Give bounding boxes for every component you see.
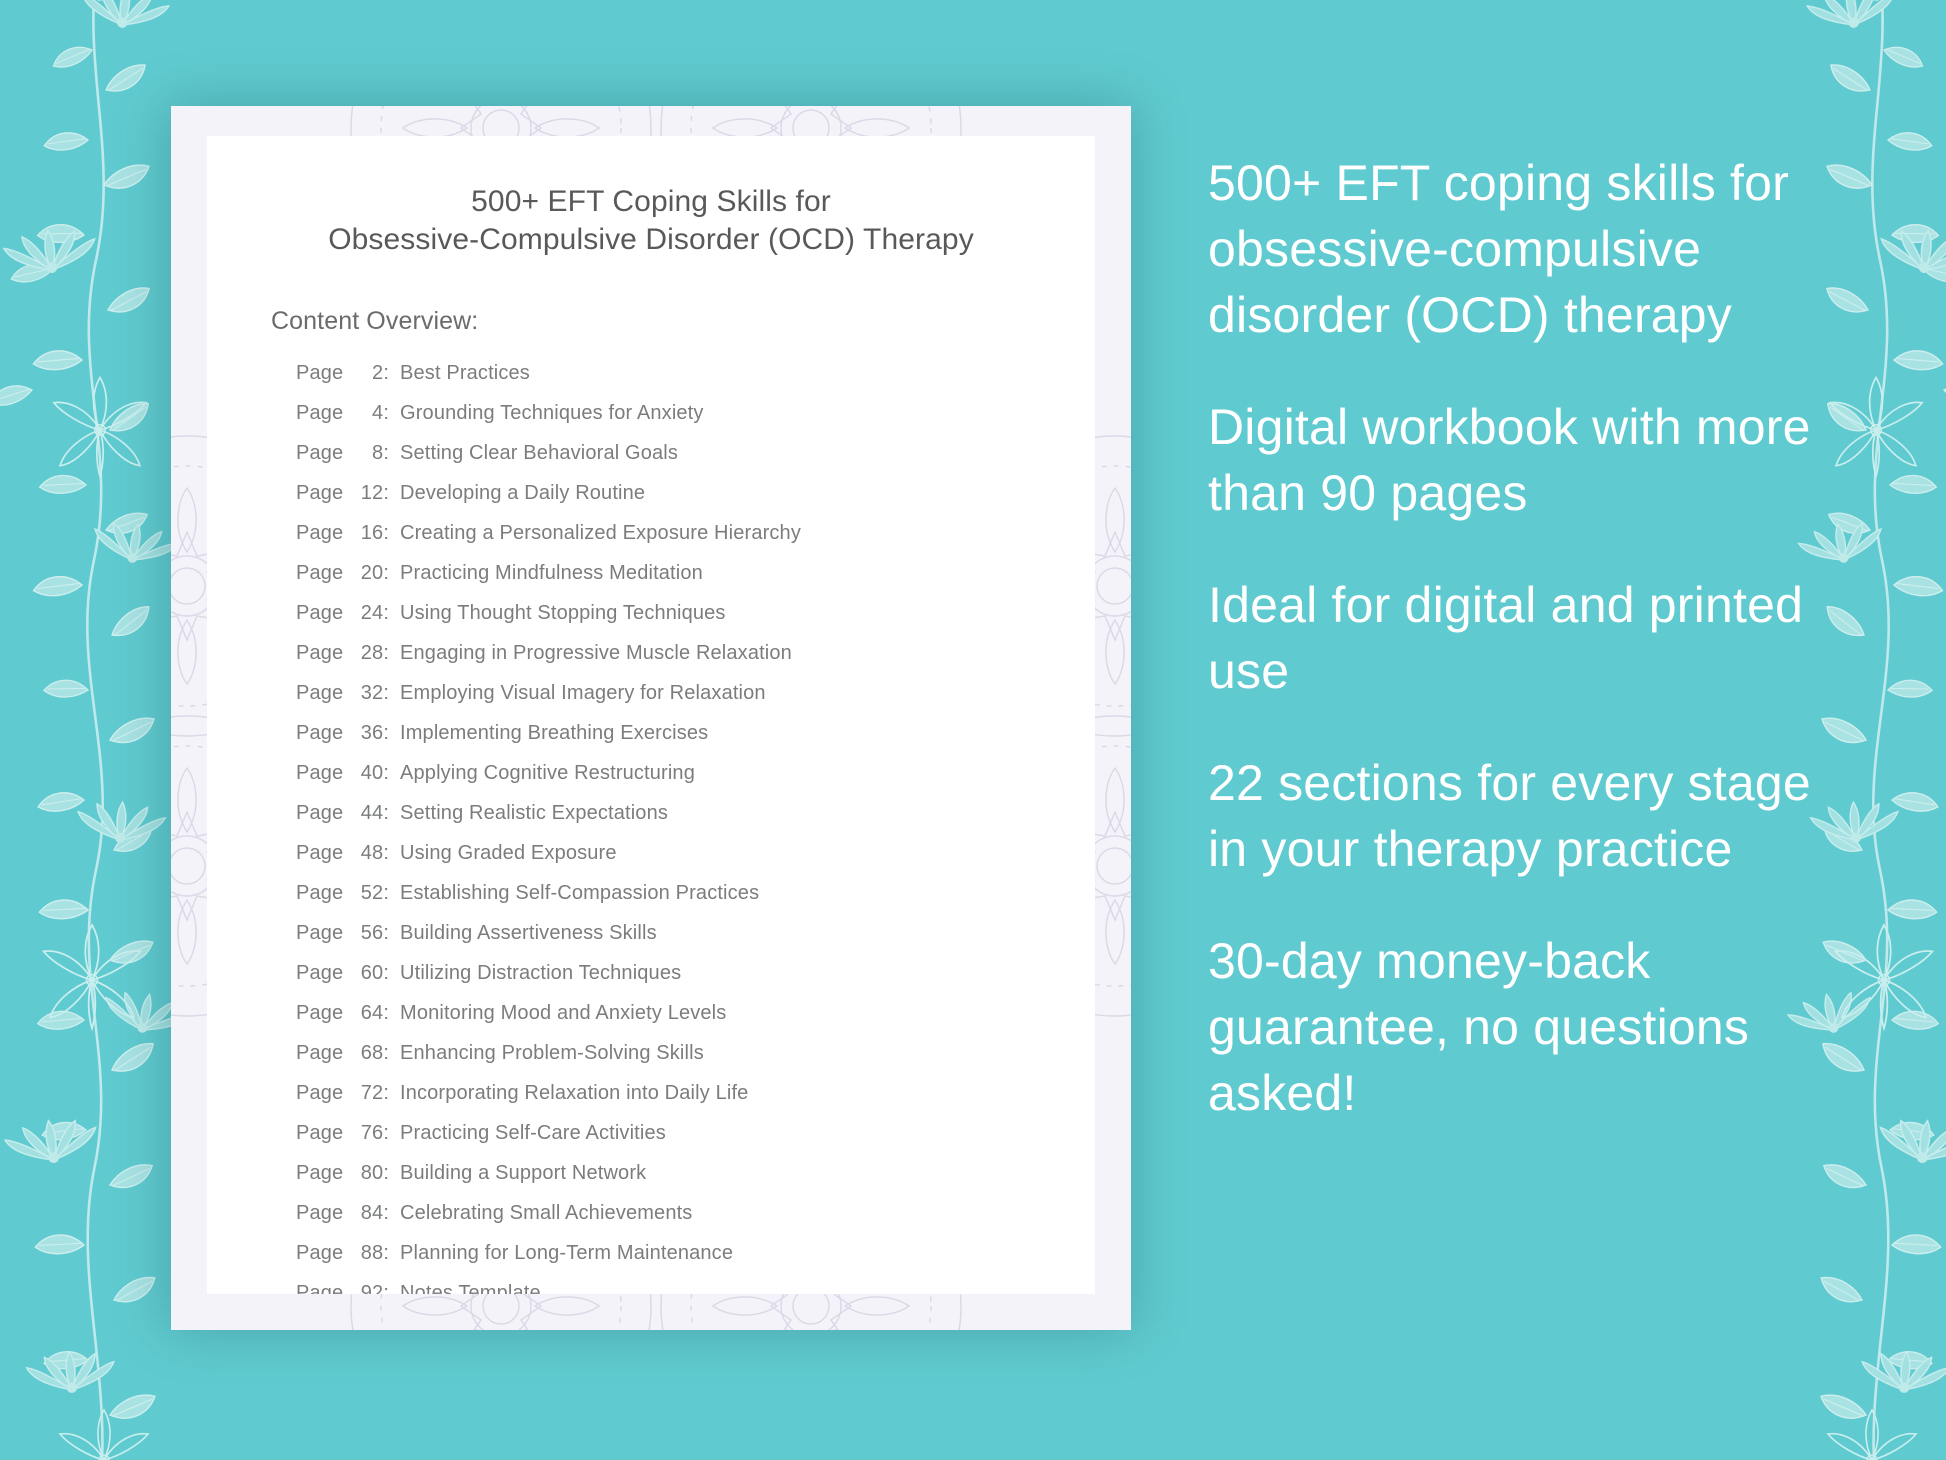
toc-page-number: 4 xyxy=(349,403,383,423)
toc-entry[interactable]: Page48:Using Graded Exposure xyxy=(296,843,1095,863)
toc-entry-title: Enhancing Problem-Solving Skills xyxy=(400,1043,704,1063)
toc-entry[interactable]: Page84:Celebrating Small Achievements xyxy=(296,1203,1095,1223)
marketing-bullet: 30-day money-back guarantee, no question… xyxy=(1208,928,1818,1126)
toc-colon: : xyxy=(383,563,389,583)
poster-canvas: 500+ EFT Coping Skills for Obsessive-Com… xyxy=(0,0,1946,1460)
toc-page-number: 36 xyxy=(349,723,383,743)
toc-page-number: 80 xyxy=(349,1163,383,1183)
toc-entry[interactable]: Page12:Developing a Daily Routine xyxy=(296,483,1095,503)
toc-page-number: 92 xyxy=(349,1283,383,1294)
toc-page-number: 12 xyxy=(349,483,383,503)
table-of-contents: Page2:Best PracticesPage4:Grounding Tech… xyxy=(207,336,1095,1294)
toc-page-word: Page xyxy=(296,1083,343,1103)
toc-entry-title: Monitoring Mood and Anxiety Levels xyxy=(400,1003,726,1023)
toc-page-number: 52 xyxy=(349,883,383,903)
toc-entry[interactable]: Page24:Using Thought Stopping Techniques xyxy=(296,603,1095,623)
marketing-bullet: Ideal for digital and printed use xyxy=(1208,572,1818,704)
toc-colon: : xyxy=(383,923,389,943)
toc-entry[interactable]: Page28:Engaging in Progressive Muscle Re… xyxy=(296,643,1095,663)
toc-entry[interactable]: Page80:Building a Support Network xyxy=(296,1163,1095,1183)
toc-entry[interactable]: Page4:Grounding Techniques for Anxiety xyxy=(296,403,1095,423)
toc-entry-title: Practicing Mindfulness Meditation xyxy=(400,563,703,583)
toc-page-number: 32 xyxy=(349,683,383,703)
toc-page-word: Page xyxy=(296,763,343,783)
toc-page-word: Page xyxy=(296,403,343,423)
toc-page-word: Page xyxy=(296,843,343,863)
document-page[interactable]: 500+ EFT Coping Skills for Obsessive-Com… xyxy=(171,106,1131,1330)
toc-colon: : xyxy=(383,723,389,743)
toc-colon: : xyxy=(383,763,389,783)
toc-colon: : xyxy=(383,1203,389,1223)
toc-entry-title: Setting Realistic Expectations xyxy=(400,803,668,823)
toc-page-number: 2 xyxy=(349,363,383,383)
toc-page-word: Page xyxy=(296,603,343,623)
toc-entry[interactable]: Page64:Monitoring Mood and Anxiety Level… xyxy=(296,1003,1095,1023)
toc-page-word: Page xyxy=(296,1003,343,1023)
toc-entry[interactable]: Page20:Practicing Mindfulness Meditation xyxy=(296,563,1095,583)
toc-entry[interactable]: Page68:Enhancing Problem-Solving Skills xyxy=(296,1043,1095,1063)
toc-entry-title: Celebrating Small Achievements xyxy=(400,1203,692,1223)
toc-colon: : xyxy=(383,683,389,703)
toc-page-word: Page xyxy=(296,1123,343,1143)
toc-page-number: 28 xyxy=(349,643,383,663)
toc-page-word: Page xyxy=(296,1203,343,1223)
content-overview-label: Content Overview: xyxy=(207,258,1095,336)
toc-entry-title: Engaging in Progressive Muscle Relaxatio… xyxy=(400,643,792,663)
toc-entry-title: Developing a Daily Routine xyxy=(400,483,645,503)
toc-colon: : xyxy=(383,963,389,983)
toc-page-number: 16 xyxy=(349,523,383,543)
marketing-bullet: Digital workbook with more than 90 pages xyxy=(1208,394,1818,526)
toc-page-word: Page xyxy=(296,1043,343,1063)
toc-entry[interactable]: Page36:Implementing Breathing Exercises xyxy=(296,723,1095,743)
toc-entry-title: Best Practices xyxy=(400,363,530,383)
toc-entry-title: Setting Clear Behavioral Goals xyxy=(400,443,678,463)
toc-page-word: Page xyxy=(296,963,343,983)
toc-page-number: 40 xyxy=(349,763,383,783)
toc-entry-title: Establishing Self-Compassion Practices xyxy=(400,883,759,903)
toc-colon: : xyxy=(383,363,389,383)
document-inner-page: 500+ EFT Coping Skills for Obsessive-Com… xyxy=(207,136,1095,1294)
toc-entry-title: Building a Support Network xyxy=(400,1163,646,1183)
toc-entry-title: Employing Visual Imagery for Relaxation xyxy=(400,683,766,703)
toc-entry-title: Grounding Techniques for Anxiety xyxy=(400,403,704,423)
toc-entry-title: Incorporating Relaxation into Daily Life xyxy=(400,1083,748,1103)
toc-page-word: Page xyxy=(296,803,343,823)
toc-page-number: 84 xyxy=(349,1203,383,1223)
toc-entry[interactable]: Page72:Incorporating Relaxation into Dai… xyxy=(296,1083,1095,1103)
toc-entry-title: Practicing Self-Care Activities xyxy=(400,1123,666,1143)
page-title-line-1: 500+ EFT Coping Skills for xyxy=(207,183,1095,221)
toc-page-word: Page xyxy=(296,1283,343,1294)
toc-page-word: Page xyxy=(296,683,343,703)
page-title: 500+ EFT Coping Skills for Obsessive-Com… xyxy=(207,136,1095,258)
marketing-bullet: 500+ EFT coping skills for obsessive-com… xyxy=(1208,150,1818,348)
toc-entry[interactable]: Page40:Applying Cognitive Restructuring xyxy=(296,763,1095,783)
toc-page-word: Page xyxy=(296,523,343,543)
toc-entry-title: Using Graded Exposure xyxy=(400,843,617,863)
toc-page-word: Page xyxy=(296,1243,343,1263)
toc-page-word: Page xyxy=(296,883,343,903)
toc-colon: : xyxy=(383,483,389,503)
toc-entry[interactable]: Page32:Employing Visual Imagery for Rela… xyxy=(296,683,1095,703)
toc-page-word: Page xyxy=(296,563,343,583)
toc-page-number: 68 xyxy=(349,1043,383,1063)
toc-page-number: 72 xyxy=(349,1083,383,1103)
toc-colon: : xyxy=(383,443,389,463)
toc-entry[interactable]: Page92:Notes Template xyxy=(296,1283,1095,1294)
toc-page-word: Page xyxy=(296,363,343,383)
toc-entry-title: Building Assertiveness Skills xyxy=(400,923,657,943)
toc-colon: : xyxy=(383,1003,389,1023)
toc-page-word: Page xyxy=(296,483,343,503)
toc-entry[interactable]: Page56:Building Assertiveness Skills xyxy=(296,923,1095,943)
toc-entry[interactable]: Page88:Planning for Long-Term Maintenanc… xyxy=(296,1243,1095,1263)
toc-page-number: 60 xyxy=(349,963,383,983)
toc-entry[interactable]: Page76:Practicing Self-Care Activities xyxy=(296,1123,1095,1143)
toc-page-word: Page xyxy=(296,643,343,663)
toc-colon: : xyxy=(383,1243,389,1263)
toc-entry-title: Utilizing Distraction Techniques xyxy=(400,963,681,983)
toc-page-word: Page xyxy=(296,1163,343,1183)
toc-page-number: 44 xyxy=(349,803,383,823)
toc-entry[interactable]: Page44:Setting Realistic Expectations xyxy=(296,803,1095,823)
toc-colon: : xyxy=(383,1283,389,1294)
toc-entry-title: Creating a Personalized Exposure Hierarc… xyxy=(400,523,801,543)
toc-entry[interactable]: Page2:Best Practices xyxy=(296,363,1095,383)
toc-colon: : xyxy=(383,1163,389,1183)
toc-colon: : xyxy=(383,523,389,543)
toc-entry-title: Using Thought Stopping Techniques xyxy=(400,603,726,623)
toc-colon: : xyxy=(383,1123,389,1143)
toc-page-number: 56 xyxy=(349,923,383,943)
toc-colon: : xyxy=(383,643,389,663)
toc-colon: : xyxy=(383,883,389,903)
toc-colon: : xyxy=(383,403,389,423)
toc-page-number: 20 xyxy=(349,563,383,583)
toc-colon: : xyxy=(383,603,389,623)
toc-entry[interactable]: Page52:Establishing Self-Compassion Prac… xyxy=(296,883,1095,903)
marketing-bullet: 22 sections for every stage in your ther… xyxy=(1208,750,1818,882)
marketing-bullet-list: 500+ EFT coping skills for obsessive-com… xyxy=(1208,150,1818,1126)
toc-page-number: 24 xyxy=(349,603,383,623)
toc-entry-title: Applying Cognitive Restructuring xyxy=(400,763,695,783)
toc-entry-title: Implementing Breathing Exercises xyxy=(400,723,708,743)
toc-page-word: Page xyxy=(296,923,343,943)
toc-page-number: 48 xyxy=(349,843,383,863)
toc-page-word: Page xyxy=(296,723,343,743)
toc-page-word: Page xyxy=(296,443,343,463)
toc-page-number: 8 xyxy=(349,443,383,463)
page-title-line-2: Obsessive-Compulsive Disorder (OCD) Ther… xyxy=(207,221,1095,259)
toc-page-number: 64 xyxy=(349,1003,383,1023)
toc-entry-title: Planning for Long-Term Maintenance xyxy=(400,1243,733,1263)
toc-entry[interactable]: Page60:Utilizing Distraction Techniques xyxy=(296,963,1095,983)
toc-colon: : xyxy=(383,1043,389,1063)
toc-entry[interactable]: Page16:Creating a Personalized Exposure … xyxy=(296,523,1095,543)
toc-page-number: 88 xyxy=(349,1243,383,1263)
toc-colon: : xyxy=(383,1083,389,1103)
toc-colon: : xyxy=(383,803,389,823)
toc-page-number: 76 xyxy=(349,1123,383,1143)
toc-entry[interactable]: Page8:Setting Clear Behavioral Goals xyxy=(296,443,1095,463)
toc-colon: : xyxy=(383,843,389,863)
toc-entry-title: Notes Template xyxy=(400,1283,541,1294)
